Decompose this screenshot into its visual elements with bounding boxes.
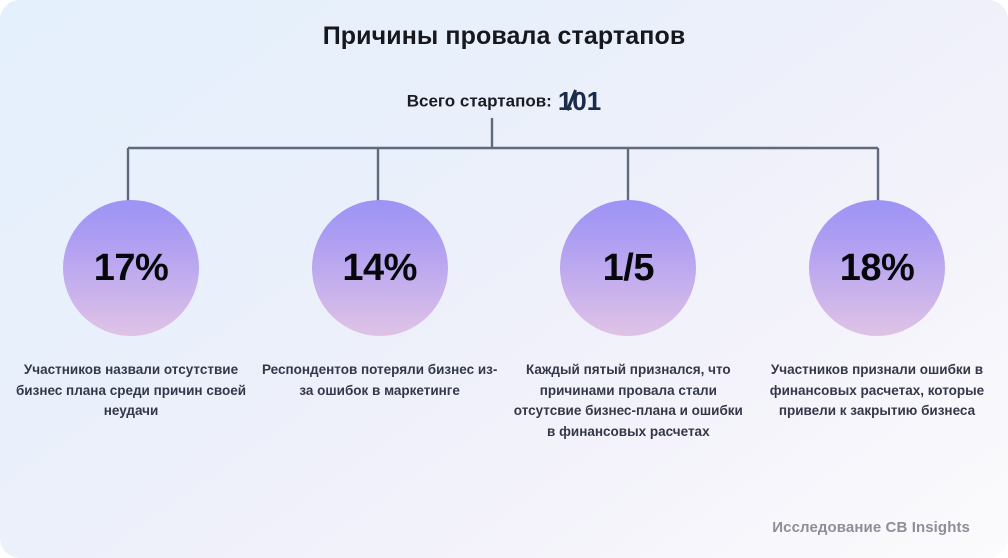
stat-caption-1: Участников назвали отсутствие бизнес пла…: [13, 360, 249, 422]
page-title: Причины провала стартапов: [0, 22, 1008, 51]
stat-caption-4: Участников признали ошибки в финансовых …: [759, 360, 995, 422]
stat-value-3: 1/5: [603, 247, 654, 290]
stat-column-3: 1/5 Каждый пятый признался, что причинам…: [507, 200, 749, 442]
stat-column-4: 18% Участников признали ошибки в финансо…: [756, 200, 998, 442]
total-startups-row: Всего стартапов:101: [0, 86, 1008, 117]
stat-caption-2: Респондентов потеряли бизнес из-за ошибо…: [262, 360, 498, 401]
source-attribution: Исследование CB Insights: [772, 519, 970, 536]
infographic-canvas: Причины провала стартапов Всего стартапо…: [0, 0, 1008, 558]
stat-value-4: 18%: [840, 247, 915, 290]
stat-caption-3: Каждый пятый признался, что причинами пр…: [510, 360, 746, 442]
stat-column-2: 14% Респондентов потеряли бизнес из-за о…: [259, 200, 501, 442]
stat-bubble-4: 18%: [809, 200, 945, 336]
stat-bubble-1: 17%: [63, 200, 199, 336]
stat-columns: 17% Участников назвали отсутствие бизнес…: [0, 200, 1008, 442]
stat-bubble-3: 1/5: [560, 200, 696, 336]
stat-value-1: 17%: [94, 247, 169, 290]
total-startups-value: 101: [558, 86, 601, 117]
stat-bubble-2: 14%: [312, 200, 448, 336]
stat-column-1: 17% Участников назвали отсутствие бизнес…: [10, 200, 252, 442]
total-startups-label: Всего стартапов:: [407, 92, 552, 111]
stat-value-2: 14%: [342, 247, 417, 290]
